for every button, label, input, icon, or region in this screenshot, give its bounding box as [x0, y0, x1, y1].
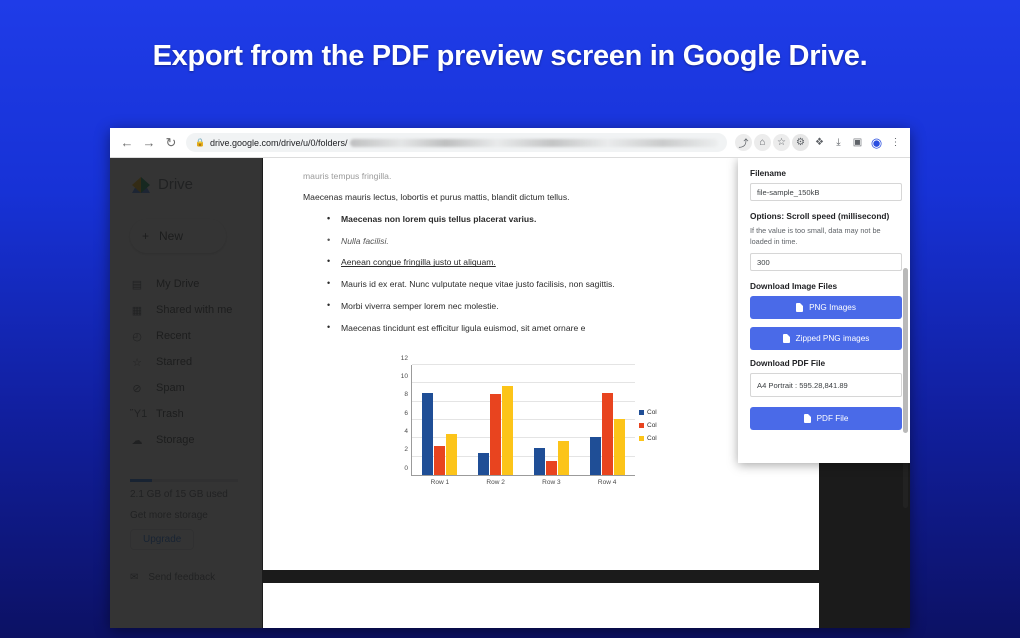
bar	[546, 461, 557, 475]
share-icon[interactable]: ⤴	[735, 134, 752, 151]
puzzle-extensions-icon[interactable]: ❖	[811, 134, 828, 151]
y-axis-tick: 0	[404, 465, 408, 472]
png-images-button[interactable]: PNG Images	[750, 296, 902, 319]
trash-icon: Ὕ1	[130, 408, 144, 420]
drive-logo: Drive	[132, 176, 262, 193]
bar	[502, 386, 513, 475]
x-axis-tick: Row 4	[584, 479, 631, 486]
pdf-page-next	[263, 583, 819, 628]
pdf-page: mauris tempus fringilla. Maecenas mauris…	[263, 158, 819, 570]
y-axis-tick: 12	[401, 355, 408, 362]
extension-active-icon[interactable]: ⚙	[792, 134, 809, 151]
cloud-icon: ☁	[130, 434, 144, 447]
bar	[478, 453, 489, 475]
list-item: Nulla facilisi.	[327, 235, 801, 248]
spam-icon: ⊘	[130, 382, 144, 395]
list-item: Maecenas non lorem quis tellus placerat …	[327, 213, 801, 226]
y-axis-tick: 10	[401, 374, 408, 381]
file-icon	[796, 303, 803, 312]
sidebar-item-label: Storage	[156, 434, 195, 446]
menu-kebab-icon[interactable]: ⋮	[887, 134, 904, 151]
doc-paragraph: Maecenas mauris lectus, lobortis et puru…	[303, 191, 801, 204]
my-drive-icon: ▤	[130, 278, 144, 291]
shared-icon: ▦	[130, 304, 144, 317]
export-panel: Filename file-sample_150kB Options: Scro…	[738, 158, 910, 463]
bar-group: Row 2	[472, 365, 519, 475]
y-axis-tick: 2	[404, 447, 408, 454]
y-axis-tick: 4	[404, 429, 408, 436]
browser-toolbar: ← → ↻ 🔒 drive.google.com/drive/u/0/folde…	[110, 128, 910, 158]
storage-promo-label: Get more storage	[130, 510, 262, 521]
forward-icon[interactable]: →	[138, 132, 160, 154]
sidebar-item-label: My Drive	[156, 278, 199, 290]
downloads-icon[interactable]: ⤓	[830, 134, 847, 151]
bar-chart: 024681012Row 1Row 2Row 3Row 4 Col Col Co…	[383, 363, 683, 498]
sidebar-item-label: Recent	[156, 330, 191, 342]
pdf-file-label: PDF File	[817, 414, 849, 423]
list-item: Maecenas tincidunt est efficitur ligula …	[327, 322, 801, 335]
send-feedback-row[interactable]: ✉ Send feedback	[130, 572, 262, 583]
new-button-label: New	[159, 229, 183, 243]
back-icon[interactable]: ←	[116, 132, 138, 154]
bar	[614, 419, 625, 475]
feedback-icon: ✉	[130, 572, 138, 583]
reload-icon[interactable]: ↻	[160, 132, 182, 154]
bar-group: Row 1	[416, 365, 463, 475]
legend-label: Col	[647, 422, 657, 429]
legend-label: Col	[647, 435, 657, 442]
bar	[534, 448, 545, 476]
sidebar-item-label: Trash	[156, 408, 184, 420]
x-axis-tick: Row 3	[528, 479, 575, 486]
doc-bullet-list: Maecenas non lorem quis tellus placerat …	[327, 213, 801, 335]
new-button[interactable]: + New	[130, 219, 226, 253]
address-bar[interactable]: 🔒 drive.google.com/drive/u/0/folders/	[186, 133, 727, 152]
home-icon[interactable]: ⌂	[754, 134, 771, 151]
x-axis-tick: Row 1	[416, 479, 463, 486]
file-icon	[804, 414, 811, 423]
list-item: Morbi viverra semper lorem nec molestie.	[327, 300, 801, 313]
filename-input[interactable]: file-sample_150kB	[750, 183, 902, 201]
filename-label: Filename	[750, 168, 902, 178]
x-axis-tick: Row 2	[472, 479, 519, 486]
scroll-speed-help: If the value is too small, data may not …	[750, 226, 902, 247]
legend-item: Col	[639, 422, 683, 429]
legend-swatch	[639, 410, 644, 415]
drive-logo-icon	[132, 177, 150, 193]
pdf-section-label: Download PDF File	[750, 358, 902, 368]
plus-icon: +	[142, 229, 149, 243]
y-axis-tick: 8	[404, 392, 408, 399]
sidebar-item-trash[interactable]: Ὕ1 Trash	[124, 401, 262, 427]
sidebar-item-label: Shared with me	[156, 304, 232, 316]
bar-group: Row 3	[528, 365, 575, 475]
legend-swatch	[639, 423, 644, 428]
sidepanel-icon[interactable]: ▣	[849, 134, 866, 151]
file-icon	[783, 334, 790, 343]
profile-avatar-icon[interactable]: ◉	[868, 134, 885, 151]
bar	[490, 394, 501, 475]
list-item: Mauris id ex erat. Nunc vulputate neque …	[327, 278, 801, 291]
list-item: Aenean congue fringilla justo ut aliquam…	[327, 256, 801, 269]
lock-icon: 🔒	[195, 138, 205, 147]
chart-legend: Col Col Col	[639, 409, 683, 442]
pdf-scrollbar[interactable]	[903, 268, 908, 433]
upgrade-button[interactable]: Upgrade	[130, 529, 194, 550]
sidebar-item-storage[interactable]: ☁ Storage	[124, 427, 262, 453]
sidebar-item-my-drive[interactable]: ▤ My Drive	[124, 271, 262, 297]
storage-block: 2.1 GB of 15 GB used Get more storage Up…	[130, 479, 262, 583]
sidebar-item-label: Spam	[156, 382, 185, 394]
drive-sidebar: Drive + New ▤ My Drive ▦ Shared with me …	[110, 158, 262, 628]
bar-group: Row 4	[584, 365, 631, 475]
scroll-speed-label: Options: Scroll speed (millisecond)	[750, 211, 902, 221]
url-redacted-region	[350, 139, 718, 147]
sidebar-item-starred[interactable]: ☆ Starred	[124, 349, 262, 375]
feedback-label: Send feedback	[148, 572, 215, 583]
bar	[446, 434, 457, 475]
bar	[602, 393, 613, 476]
storage-progress-bar	[130, 479, 238, 482]
zipped-png-images-button[interactable]: Zipped PNG images	[750, 327, 902, 350]
pdf-file-button[interactable]: PDF File	[750, 407, 902, 430]
bar	[434, 446, 445, 475]
y-axis-tick: 6	[404, 410, 408, 417]
scroll-speed-input[interactable]: 300	[750, 253, 902, 271]
legend-label: Col	[647, 409, 657, 416]
sidebar-item-shared-with-me[interactable]: ▦ Shared with me	[124, 297, 262, 323]
pdf-size-input[interactable]: A4 Portrait : 595.28,841.89	[750, 373, 902, 397]
pdf-preview-overlay: mauris tempus fringilla. Maecenas mauris…	[262, 158, 910, 628]
zipped-png-label: Zipped PNG images	[796, 334, 870, 343]
legend-item: Col	[639, 435, 683, 442]
bar	[558, 441, 569, 475]
bar	[590, 437, 601, 476]
sidebar-item-recent[interactable]: ◴ Recent	[124, 323, 262, 349]
legend-item: Col	[639, 409, 683, 416]
chart-plot-area: 024681012Row 1Row 2Row 3Row 4	[411, 365, 635, 476]
browser-window: ← → ↻ 🔒 drive.google.com/drive/u/0/folde…	[110, 128, 910, 628]
bar	[422, 393, 433, 476]
star-icon: ☆	[130, 356, 144, 369]
storage-used-label: 2.1 GB of 15 GB used	[130, 489, 262, 500]
page-title: Export from the PDF preview screen in Go…	[0, 40, 1020, 73]
sidebar-item-label: Starred	[156, 356, 192, 368]
png-images-label: PNG Images	[809, 303, 856, 312]
bookmark-star-icon[interactable]: ☆	[773, 134, 790, 151]
image-section-label: Download Image Files	[750, 281, 902, 291]
legend-swatch	[639, 436, 644, 441]
clock-icon: ◴	[130, 330, 144, 343]
url-text: drive.google.com/drive/u/0/folders/	[210, 138, 348, 148]
drive-wordmark: Drive	[158, 176, 193, 193]
sidebar-item-spam[interactable]: ⊘ Spam	[124, 375, 262, 401]
browser-toolbar-icons: ⤴ ⌂ ☆ ⚙ ❖ ⤓ ▣ ◉ ⋮	[735, 134, 904, 151]
doc-cut-line: mauris tempus fringilla.	[303, 170, 801, 183]
